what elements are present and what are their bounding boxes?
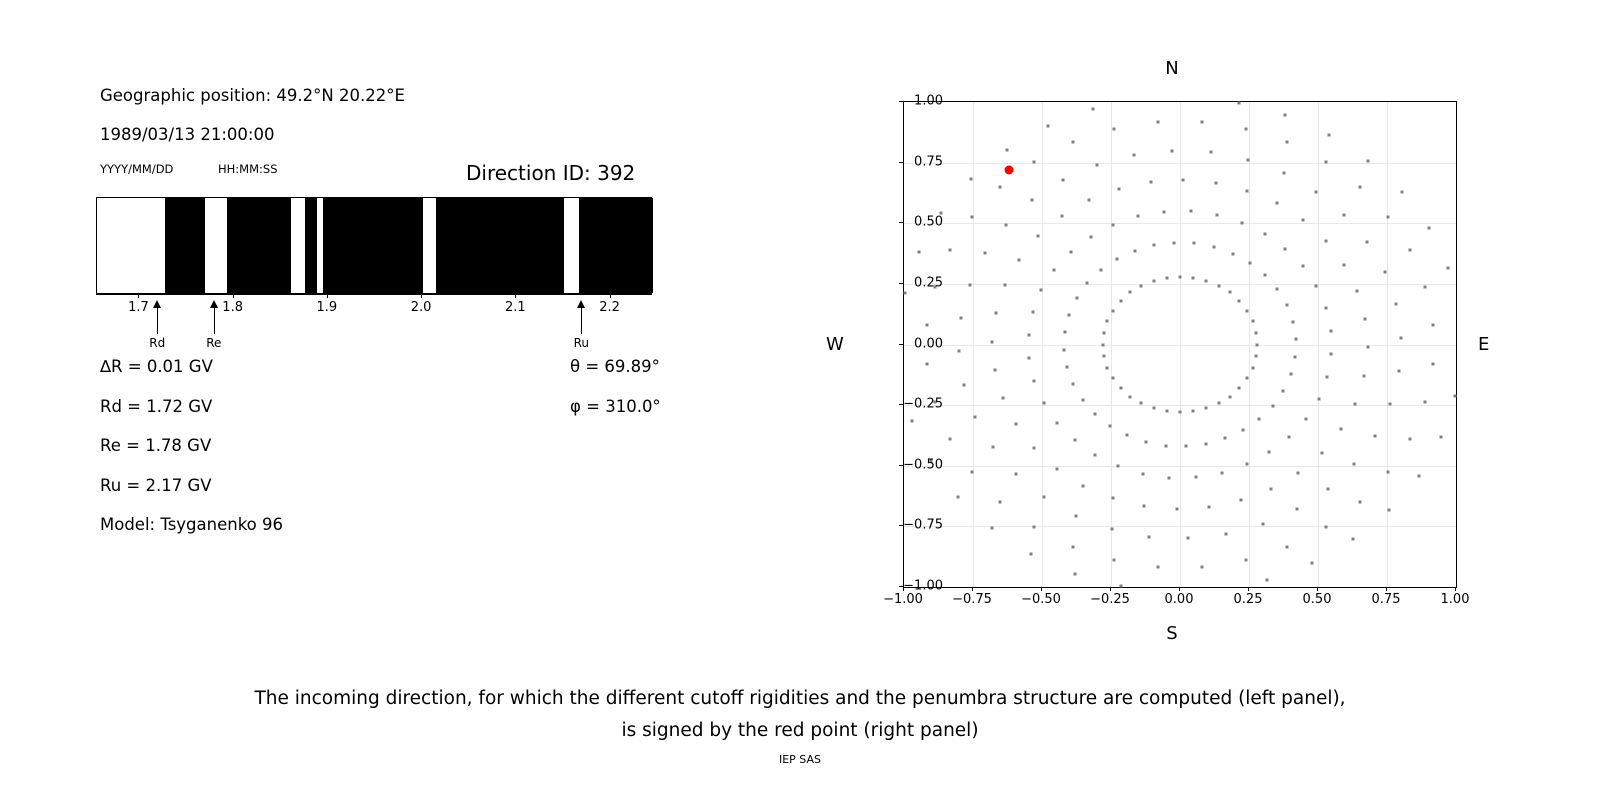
sky-direction-dot [1014,473,1017,476]
compass-south-label: S [1166,623,1177,644]
sky-direction-dot [1126,434,1129,437]
sky-direction-dot [1399,336,1402,339]
caption-line-2: is signed by the red point (right panel) [0,715,1600,747]
x-axis-tick-mark [1455,587,1456,591]
sky-direction-dot [1343,213,1346,216]
sky-direction-dot [1099,269,1102,272]
sky-direction-dot [1156,121,1159,124]
x-axis-tick-label: 0.00 [1165,592,1194,607]
sky-direction-dot [1328,133,1331,136]
sky-direction-dot [1072,383,1075,386]
stat-line: Ru = 2.17 GV [100,476,212,495]
sky-direction-dot [911,419,914,422]
sky-direction-dot [926,324,929,327]
penumbra-axis-tick-label: 2.0 [411,300,432,315]
sky-direction-dot [1027,334,1030,337]
selected-direction-point[interactable] [1004,165,1013,174]
sky-direction-dot [1269,487,1272,490]
sky-direction-dot [1275,202,1278,205]
sky-direction-dot [1106,320,1109,323]
penumbra-axis-tick-label: 2.2 [599,300,620,315]
penumbra-band-forbidden [323,198,423,293]
sky-direction-dot [1092,108,1095,111]
sky-direction-dot [960,316,963,319]
sky-direction-dot [1394,303,1397,306]
sky-direction-dot [1324,526,1327,529]
y-axis-tick-mark [899,222,903,223]
sky-direction-dot [1142,472,1145,475]
sky-direction-dot [1228,395,1231,398]
gridline-horizontal [904,284,1456,285]
sky-direction-dot [1033,526,1036,529]
x-axis-tick-label: 0.50 [1303,592,1332,607]
y-axis-tick-mark [899,344,903,345]
sky-direction-dot [1133,153,1136,156]
sky-direction-dot [1172,241,1175,244]
sky-direction-dot [1152,407,1155,410]
sky-direction-dot [1285,303,1288,306]
sky-direction-dot [1424,285,1427,288]
sky-direction-dot [1109,424,1112,427]
sky-direction-dot [1424,401,1427,404]
stat-line: Re = 1.78 GV [100,436,211,455]
sky-direction-dot [1075,297,1078,300]
sky-direction-dot [1329,329,1332,332]
sky-direction-dot [1304,418,1307,421]
sky-direction-dot [1367,159,1370,162]
sky-direction-dot [1228,291,1231,294]
x-axis-tick-mark [1041,587,1042,591]
sky-direction-dot [1185,445,1188,448]
sky-direction-dot [1343,263,1346,266]
sky-direction-dot [1240,499,1243,502]
sky-direction-dot [1149,180,1152,183]
penumbra-marker-label-ru: Ru [574,336,589,350]
geographic-position-text: Geographic position: 49.2°N 20.22°E [100,86,405,105]
sky-direction-dot [1358,501,1361,504]
sky-direction-dot [1201,121,1204,124]
sky-direction-dot [1366,346,1369,349]
sky-direction-dot [994,312,997,315]
gridline-horizontal [904,345,1456,346]
sky-direction-dot [903,292,906,295]
sky-direction-dot [1086,282,1089,285]
sky-direction-dot [1071,545,1074,548]
sky-direction-dot [1209,151,1212,154]
x-axis-tick-label: 0.25 [1234,592,1263,607]
sky-direction-dot [1296,508,1299,511]
penumbra-band-forbidden [579,198,653,293]
figure-caption: The incoming direction, for which the di… [0,683,1600,747]
sky-direction-dot [1288,436,1291,439]
sky-direction-dot [1224,533,1227,536]
x-axis-tick-label: −1.00 [883,592,923,607]
sky-direction-dot [1258,417,1261,420]
sky-direction-dot [1373,434,1376,437]
datetime-text: 1989/03/13 21:00:00 [100,125,274,144]
sky-direction-dot [1282,389,1285,392]
sky-direction-dot [1324,306,1327,309]
x-axis-tick-label: −0.50 [1021,592,1061,607]
sky-direction-dot [1397,370,1400,373]
sky-direction-dot [993,369,996,372]
stat-line: Model: Tsyganenko 96 [100,515,283,534]
sky-direction-dot [1245,377,1248,380]
sky-direction-dot [1075,514,1078,517]
sky-direction-dot [1071,141,1074,144]
gridline-horizontal [904,466,1456,467]
gridline-horizontal [904,526,1456,527]
sky-direction-dot [969,283,972,286]
sky-direction-dot [1046,125,1049,128]
sky-direction-dot [1294,338,1297,341]
sky-direction-dot [1033,380,1036,383]
penumbra-axis-tick-label: 2.1 [505,300,526,315]
sky-direction-dot [1240,221,1243,224]
sky-direction-dot [1113,558,1116,561]
footer-text: IEP SAS [0,753,1600,766]
sky-direction-dot [1238,299,1241,302]
sky-direction-dot [1014,423,1017,426]
penumbra-marker-arrow-ru [581,308,582,334]
sky-direction-dot [1205,442,1208,445]
sky-direction-dot [984,252,987,255]
sky-direction-dot [1088,199,1091,202]
sky-direction-dot [991,446,994,449]
x-axis-tick-mark [903,587,904,591]
sky-direction-dot [1179,411,1182,414]
sky-direction-dot [1201,565,1204,568]
right-panel: −1.00−0.75−0.50−0.250.000.250.500.751.00… [800,0,1600,680]
sky-direction-dot [1133,249,1136,252]
sky-direction-dot [1143,505,1146,508]
sky-direction-dot [1248,262,1251,265]
sky-direction-dot [1094,412,1097,415]
x-axis-tick-mark [1248,587,1249,591]
y-axis-tick-mark [899,162,903,163]
sky-direction-dot [1324,239,1327,242]
sky-direction-dot [1018,258,1021,261]
sky-direction-dot [1363,374,1366,377]
sky-direction-dot [1217,284,1220,287]
x-axis-tick-label: 1.00 [1441,592,1470,607]
sky-direction-dot [1289,373,1292,376]
penumbra-axis-tick-label: 1.7 [128,300,149,315]
sky-direction-dot [1117,187,1120,190]
sky-direction-dot [1354,402,1357,405]
sky-direction-dot [1031,311,1034,314]
sky-direction-dot [1271,404,1274,407]
sky-direction-dot [1383,270,1386,273]
sky-direction-dot [1276,288,1279,291]
sky-direction-dot [1053,268,1056,271]
sky-direction-dot [1302,219,1305,222]
sky-direction-dot [969,177,972,180]
sky-direction-dot [999,185,1002,188]
sky-direction-dot [1246,189,1249,192]
penumbra-bar [96,197,652,294]
sky-direction-dot [1033,160,1036,163]
sky-direction-dot [974,416,977,419]
sky-direction-dot [1156,565,1159,568]
sky-direction-dot [1112,223,1115,226]
sky-direction-dot [1282,172,1285,175]
sky-direction-dot [1315,285,1318,288]
sky-direction-dot [1215,214,1218,217]
x-axis-tick-label: −0.75 [952,592,992,607]
sky-direction-dot [926,362,929,365]
sky-direction-dot [1028,357,1031,360]
sky-direction-dot [1352,538,1355,541]
sky-direction-dot [1068,313,1071,316]
y-axis-tick-label: −0.25 [903,397,943,412]
sky-direction-dot [1115,258,1118,261]
x-axis-tick-mark [1179,587,1180,591]
sky-direction-dot [1352,462,1355,465]
sky-direction-dot [1388,509,1391,512]
sky-direction-dot [1120,585,1123,588]
sky-direction-dot [1163,210,1166,213]
sky-direction-dot [1247,158,1250,161]
sky-map-plot-frame [903,101,1457,588]
sky-direction-dot [1063,348,1066,351]
sky-direction-dot [1454,394,1457,397]
caption-line-1: The incoming direction, for which the di… [0,683,1600,715]
y-axis-tick-mark [899,465,903,466]
sky-direction-dot [1175,508,1178,511]
sky-direction-dot [1055,467,1058,470]
sky-direction-dot [1417,474,1420,477]
sky-direction-dot [1205,279,1208,282]
penumbra-axis-tick [515,294,516,298]
sky-direction-dot [1179,275,1182,278]
sky-direction-dot [1193,242,1196,245]
sky-direction-dot [1033,447,1036,450]
sky-direction-dot [1129,395,1132,398]
sky-direction-dot [1326,487,1329,490]
sky-direction-dot [1440,436,1443,439]
gridline-horizontal [904,223,1456,224]
sky-direction-dot [1164,444,1167,447]
sky-direction-dot [1214,181,1217,184]
sky-direction-dot [1119,299,1122,302]
sky-direction-dot [1192,276,1195,279]
sky-direction-dot [1212,246,1215,249]
penumbra-axis-tick [233,294,234,298]
sky-direction-dot [1192,410,1195,413]
sky-direction-dot [1255,355,1258,358]
sky-direction-dot [1238,387,1241,390]
sky-direction-dot [1168,476,1171,479]
sky-direction-dot [1255,331,1258,334]
y-axis-tick-label: 0.00 [914,336,943,351]
sky-direction-dot [1409,437,1412,440]
x-axis-tick-mark [1110,587,1111,591]
sky-direction-dot [991,340,994,343]
sky-direction-dot [1111,497,1114,500]
sky-direction-dot [1186,537,1189,540]
angle-line: φ = 310.0° [570,397,661,416]
penumbra-band-forbidden [227,198,292,293]
sky-direction-dot [1356,289,1359,292]
penumbra-band-forbidden [305,198,317,293]
sky-direction-dot [1261,523,1264,526]
sky-direction-dot [1251,320,1254,323]
sky-direction-dot [1129,291,1132,294]
sky-direction-dot [1001,397,1004,400]
penumbra-axis-tick [421,294,422,298]
sky-direction-dot [1231,252,1234,255]
sky-direction-dot [1245,309,1248,312]
sky-direction-dot [1431,324,1434,327]
sky-direction-dot [1003,284,1006,287]
sky-direction-dot [1061,178,1064,181]
sky-direction-dot [1073,439,1076,442]
y-axis-tick-label: 1.00 [914,94,943,109]
date-format-hint: YYYY/MM/DD [100,162,173,176]
sky-direction-dot [1314,190,1317,193]
penumbra-marker-label-rd: Rd [149,336,165,350]
sky-direction-dot [1037,235,1040,238]
sky-direction-dot [1217,402,1220,405]
sky-direction-dot [990,527,993,530]
sky-direction-dot [1364,317,1367,320]
sky-direction-dot [948,437,951,440]
sky-direction-dot [1220,471,1223,474]
sky-direction-dot [1113,128,1116,131]
sky-direction-dot [1165,276,1168,279]
sky-direction-dot [1427,227,1430,230]
stat-line: Rd = 1.72 GV [100,397,212,416]
sky-direction-dot [1005,148,1008,151]
sky-direction-dot [1042,401,1045,404]
y-axis-tick-mark [899,525,903,526]
compass-north-label: N [1165,58,1178,79]
sky-direction-dot [1189,210,1192,213]
sky-direction-dot [917,250,920,253]
sky-direction-dot [1102,331,1105,334]
y-axis-tick-label: 0.75 [914,154,943,169]
sky-direction-dot [1284,114,1287,117]
sky-direction-dot [1005,224,1008,227]
sky-direction-dot [1242,428,1245,431]
penumbra-chart [96,197,652,294]
y-axis-tick-mark [899,101,903,102]
sky-direction-dot [1089,235,1092,238]
penumbra-axis-tick [610,294,611,298]
x-axis-tick-label: 0.75 [1372,592,1401,607]
sky-direction-dot [1182,178,1185,181]
sky-direction-dot [1245,463,1248,466]
penumbra-axis-tick [138,294,139,298]
sky-direction-dot [1224,437,1227,440]
x-axis-tick-mark [1386,587,1387,591]
direction-id-text: Direction ID: 392 [466,161,635,185]
sky-direction-dot [1358,185,1361,188]
sky-direction-dot [1110,528,1113,531]
compass-west-label: W [826,334,844,355]
sky-direction-dot [1031,199,1034,202]
sky-direction-dot [1066,366,1069,369]
sky-direction-dot [958,350,961,353]
sky-direction-dot [1140,284,1143,287]
sky-direction-dot [1073,572,1076,575]
sky-direction-dot [1060,215,1063,218]
left-panel: Geographic position: 49.2°N 20.22°E 1989… [0,0,800,680]
sky-direction-dot [1265,578,1268,581]
sky-direction-dot [1301,265,1304,268]
sky-direction-dot [1388,403,1391,406]
y-axis-tick-label: −0.75 [903,518,943,533]
sky-direction-dot [1140,402,1143,405]
sky-direction-dot [1081,398,1084,401]
sky-direction-dot [1194,476,1197,479]
sky-direction-dot [1286,545,1289,548]
y-axis-tick-label: −0.50 [903,457,943,472]
penumbra-marker-arrow-re [214,308,215,334]
y-axis-tick-label: 0.50 [914,215,943,230]
sky-direction-dot [1409,249,1412,252]
sky-direction-dot [963,383,966,386]
sky-direction-dot [1330,352,1333,355]
sky-direction-dot [1112,377,1115,380]
sky-direction-dot [1148,535,1151,538]
compass-east-label: E [1478,334,1489,355]
sky-direction-dot [1284,247,1287,250]
sky-direction-dot [1263,274,1266,277]
sky-direction-dot [1029,553,1032,556]
sky-direction-dot [1056,421,1059,424]
sky-direction-dot [1400,191,1403,194]
y-axis-tick-mark [899,404,903,405]
x-axis-tick-mark [1317,587,1318,591]
sky-direction-dot [1386,471,1389,474]
sky-direction-dot [1256,343,1259,346]
sky-direction-dot [1137,215,1140,218]
sky-direction-dot [1326,375,1329,378]
penumbra-marker-arrowhead-ru [577,300,585,308]
sky-direction-dot [1112,309,1115,312]
time-format-hint: HH:MM:SS [218,162,278,176]
sky-direction-dot [1094,454,1097,457]
sky-direction-dot [1145,440,1148,443]
sky-direction-dot [1152,244,1155,247]
y-axis-tick-label: 0.25 [914,275,943,290]
sky-direction-dot [971,471,974,474]
sky-direction-dot [1152,279,1155,282]
sky-direction-dot [1386,215,1389,218]
gridline-horizontal [904,163,1456,164]
penumbra-axis-line [96,294,652,295]
sky-direction-dot [1043,496,1046,499]
x-axis-tick-label: −0.25 [1090,592,1130,607]
sky-direction-dot [1237,101,1240,104]
sky-direction-dot [1101,343,1104,346]
sky-direction-dot [1063,331,1066,334]
sky-direction-dot [1339,428,1342,431]
penumbra-band-forbidden [436,198,564,293]
sky-direction-dot [1117,465,1120,468]
sky-direction-dot [1205,407,1208,410]
y-axis-tick-mark [899,283,903,284]
sky-direction-dot [1251,366,1254,369]
sky-direction-dot [1263,232,1266,235]
penumbra-band-forbidden [165,198,205,293]
sky-direction-dot [1069,250,1072,253]
angle-line: θ = 69.89° [570,357,660,376]
sky-direction-dot [1320,451,1323,454]
sky-direction-dot [1446,267,1449,270]
